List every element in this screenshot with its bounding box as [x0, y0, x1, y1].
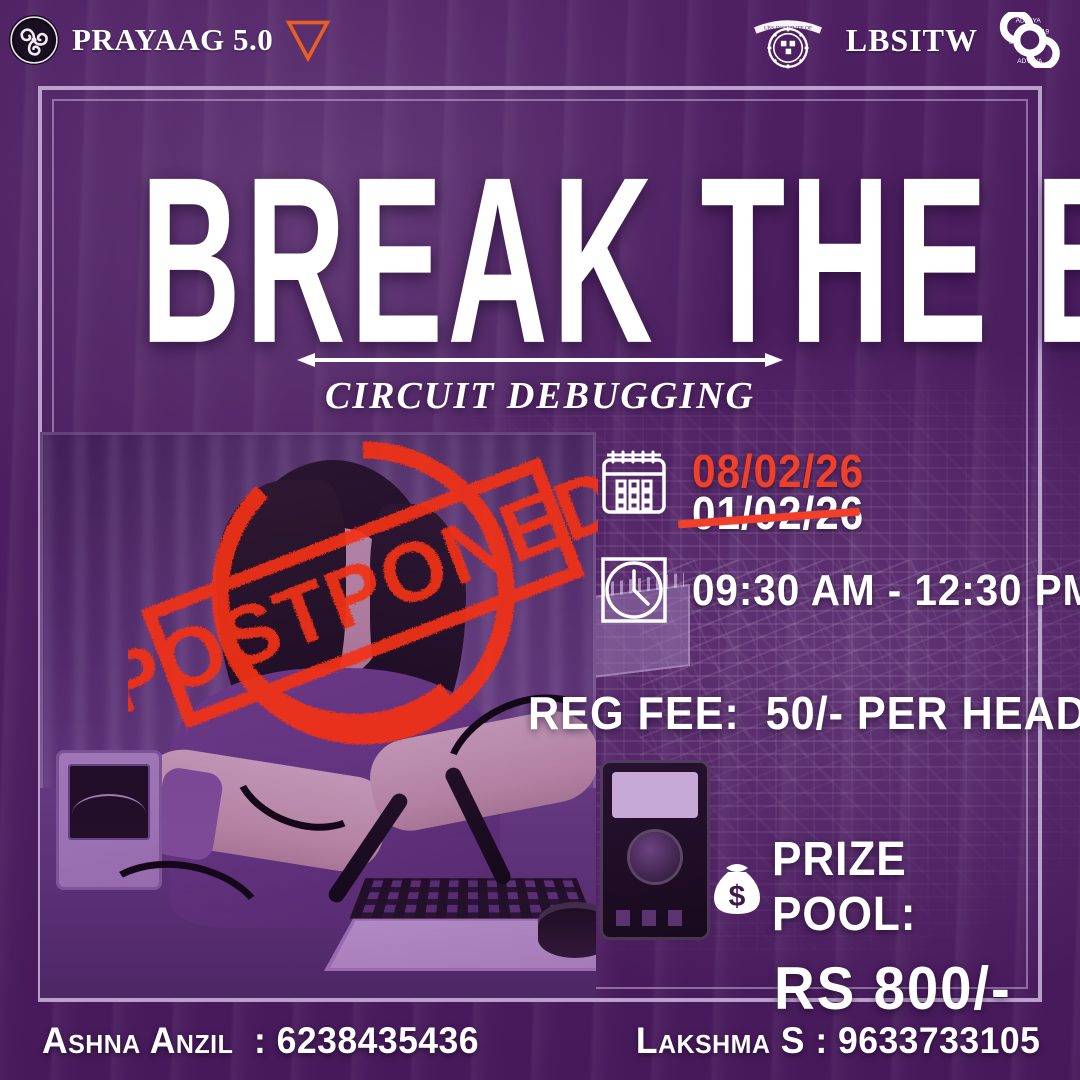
prize-pool-label: PRIZE POOL:	[772, 832, 1055, 942]
old-date-wrapper: 01/02/26	[692, 490, 879, 536]
college-name: LBSITW	[846, 22, 978, 59]
event-time: 09:30 AM - 12:30 PM	[692, 566, 1080, 616]
multimeter-graphic	[600, 760, 710, 940]
multimeter-dial	[630, 832, 680, 882]
header-right-group: LBS INSTITUTE OF	[744, 10, 1080, 70]
clock-icon	[598, 554, 670, 626]
multimeter-jacks	[616, 910, 694, 926]
poster-footer: Ashna Anzil : 6238435436 Lakshma S : 963…	[0, 1002, 1080, 1080]
calendar-icon	[598, 446, 670, 518]
postponed-stamp-icon: POSTPONED	[128, 408, 598, 778]
svg-text:ADVAYA: ADVAYA	[1016, 18, 1042, 25]
svg-text:EC: EC	[1009, 38, 1018, 45]
page-title: BREAK THE BUG	[140, 168, 939, 353]
contact-lakshma-s: Lakshma S : 9633733105	[636, 1020, 1040, 1062]
inverted-triangle-icon	[285, 18, 331, 62]
svg-text:ADVAYA: ADVAYA	[1017, 58, 1043, 65]
svg-text:$: $	[729, 880, 746, 913]
prize-pool-block: $ PRIZE POOL: RS 800/-	[706, 832, 1080, 1023]
svg-text:19: 19	[1042, 28, 1050, 35]
multimeter-screen	[612, 772, 698, 818]
time-row: 09:30 AM - 12:30 PM	[598, 554, 1068, 626]
date-row: 08/02/26 01/02/26	[598, 446, 1068, 536]
money-bag-icon: $	[706, 856, 768, 918]
double-arrow-icon	[295, 352, 785, 368]
contact-ashna-anzil: Ashna Anzil : 6238435436	[42, 1020, 479, 1062]
advaya-infinity-icon: EC 19 ADVAYA ADVAYA	[992, 12, 1066, 68]
date-values: 08/02/26 01/02/26	[692, 446, 879, 536]
event-poster: PRAYAAG 5.0 LBS INSTITUTE OF	[0, 0, 1080, 1080]
title-block: BREAK THE BUG	[0, 168, 1080, 315]
header-left-group: PRAYAAG 5.0	[0, 14, 331, 66]
fest-name: PRAYAAG 5.0	[72, 22, 273, 58]
event-details-block: 08/02/26 01/02/26 09:30 AM - 12:30 PM	[598, 446, 1068, 626]
prize-pool-header: $ PRIZE POOL:	[706, 832, 1080, 942]
lbsitw-gear-crest-icon: LBS INSTITUTE OF	[744, 10, 832, 70]
triskelion-spiral-icon	[8, 14, 60, 66]
registration-fee: REG FEE: 50/- PER HEAD	[528, 686, 1080, 740]
poster-header: PRAYAAG 5.0 LBS INSTITUTE OF	[0, 0, 1080, 80]
